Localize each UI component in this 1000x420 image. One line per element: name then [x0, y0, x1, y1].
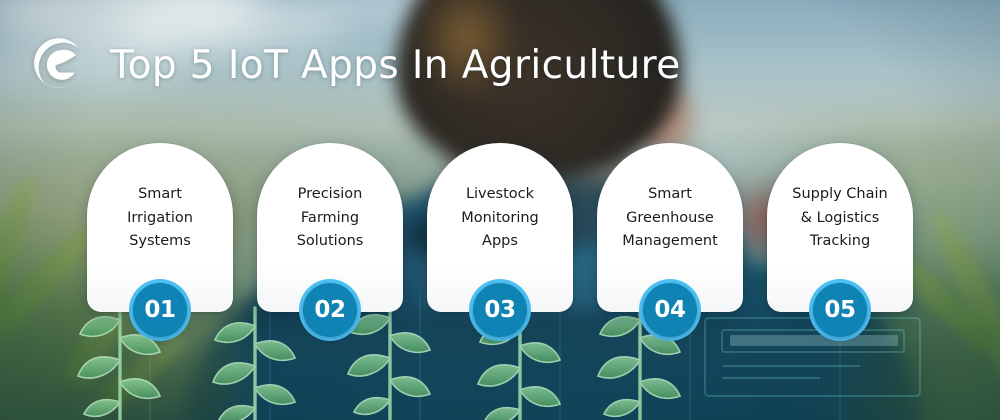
card-item[interactable]: Supply Chain & Logistics Tracking 05	[767, 143, 913, 338]
badge-inner-circle: 05	[813, 283, 867, 337]
card-label: Smart Greenhouse Management	[622, 183, 718, 253]
badge-inner-circle: 04	[643, 283, 697, 337]
card-number-badge: 04	[639, 279, 701, 341]
page-header: Top 5 IoT Apps In Agriculture	[30, 34, 681, 96]
card-row: Smart Irrigation Systems 01 Precision Fa…	[0, 143, 1000, 338]
card-number-badge: 02	[299, 279, 361, 341]
card-item[interactable]: Precision Farming Solutions 02	[257, 143, 403, 338]
badge-number: 03	[484, 299, 515, 322]
badge-number: 05	[824, 299, 855, 322]
card-label: Livestock Monitoring Apps	[461, 183, 539, 253]
card-label: Supply Chain & Logistics Tracking	[792, 183, 887, 253]
infographic-canvas: Top 5 IoT Apps In Agriculture Smart Irri…	[0, 0, 1000, 420]
card-item[interactable]: Smart Irrigation Systems 01	[87, 143, 233, 338]
badge-inner-circle: 01	[133, 283, 187, 337]
badge-inner-circle: 03	[473, 283, 527, 337]
badge-number: 02	[314, 299, 345, 322]
badge-number: 04	[654, 299, 685, 322]
card-item[interactable]: Livestock Monitoring Apps 03	[427, 143, 573, 338]
card-label: Smart Irrigation Systems	[127, 183, 193, 253]
swoosh-e-logo-icon	[30, 34, 92, 96]
badge-inner-circle: 02	[303, 283, 357, 337]
page-title: Top 5 IoT Apps In Agriculture	[110, 46, 681, 85]
card-label: Precision Farming Solutions	[297, 183, 364, 253]
card-number-badge: 03	[469, 279, 531, 341]
card-number-badge: 01	[129, 279, 191, 341]
card-number-badge: 05	[809, 279, 871, 341]
card-item[interactable]: Smart Greenhouse Management 04	[597, 143, 743, 338]
badge-number: 01	[144, 299, 175, 322]
